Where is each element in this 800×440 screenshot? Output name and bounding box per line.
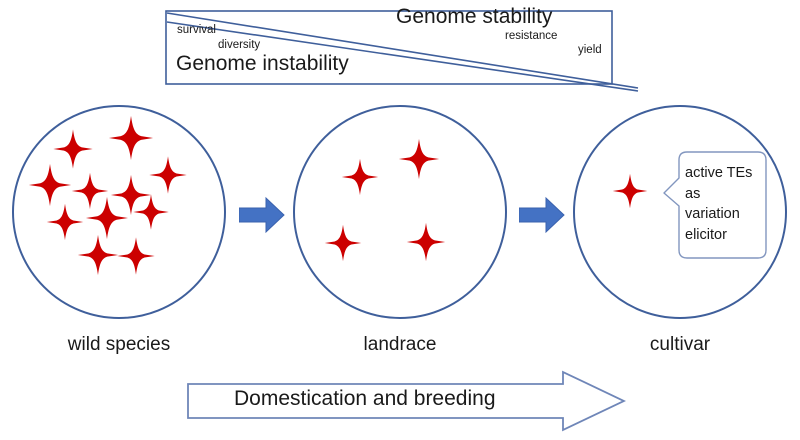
population-wild-species (12, 105, 226, 319)
trait-yield-label: yield (578, 45, 602, 57)
right-arrow-icon (519, 198, 564, 232)
population-landrace (293, 105, 507, 319)
arrow-wild-to-landrace (239, 196, 285, 234)
arrow-landrace-to-cultivar (519, 196, 565, 234)
callout-line: active TEs (685, 163, 763, 184)
wild-species-circle (12, 105, 226, 319)
trait-survival-label: survival (177, 25, 216, 37)
domestication-and-breeding-arrow: Domestication and breeding (186, 370, 626, 432)
right-arrow-icon (239, 198, 284, 232)
callout-line: variation (685, 204, 763, 225)
landrace-label: landrace (293, 334, 507, 356)
callout-line: elicitor (685, 225, 763, 246)
callout-text: active TEsasvariationelicitor (685, 163, 763, 245)
genome-instability-label: Genome instability (176, 53, 349, 74)
landrace-circle (293, 105, 507, 319)
genome-stability-banner: Genome stability Genome instability surv… (0, 0, 800, 96)
cultivar-label: cultivar (573, 334, 787, 356)
wild-species-label: wild species (12, 334, 226, 356)
callout-line: as (685, 184, 763, 205)
trait-resistance-label: resistance (505, 31, 557, 43)
active-tes-callout: active TEsasvariationelicitor (663, 150, 767, 262)
trait-diversity-label: diversity (218, 40, 260, 52)
genome-stability-label: Genome stability (396, 6, 552, 27)
domestication-label: Domestication and breeding (234, 387, 496, 411)
